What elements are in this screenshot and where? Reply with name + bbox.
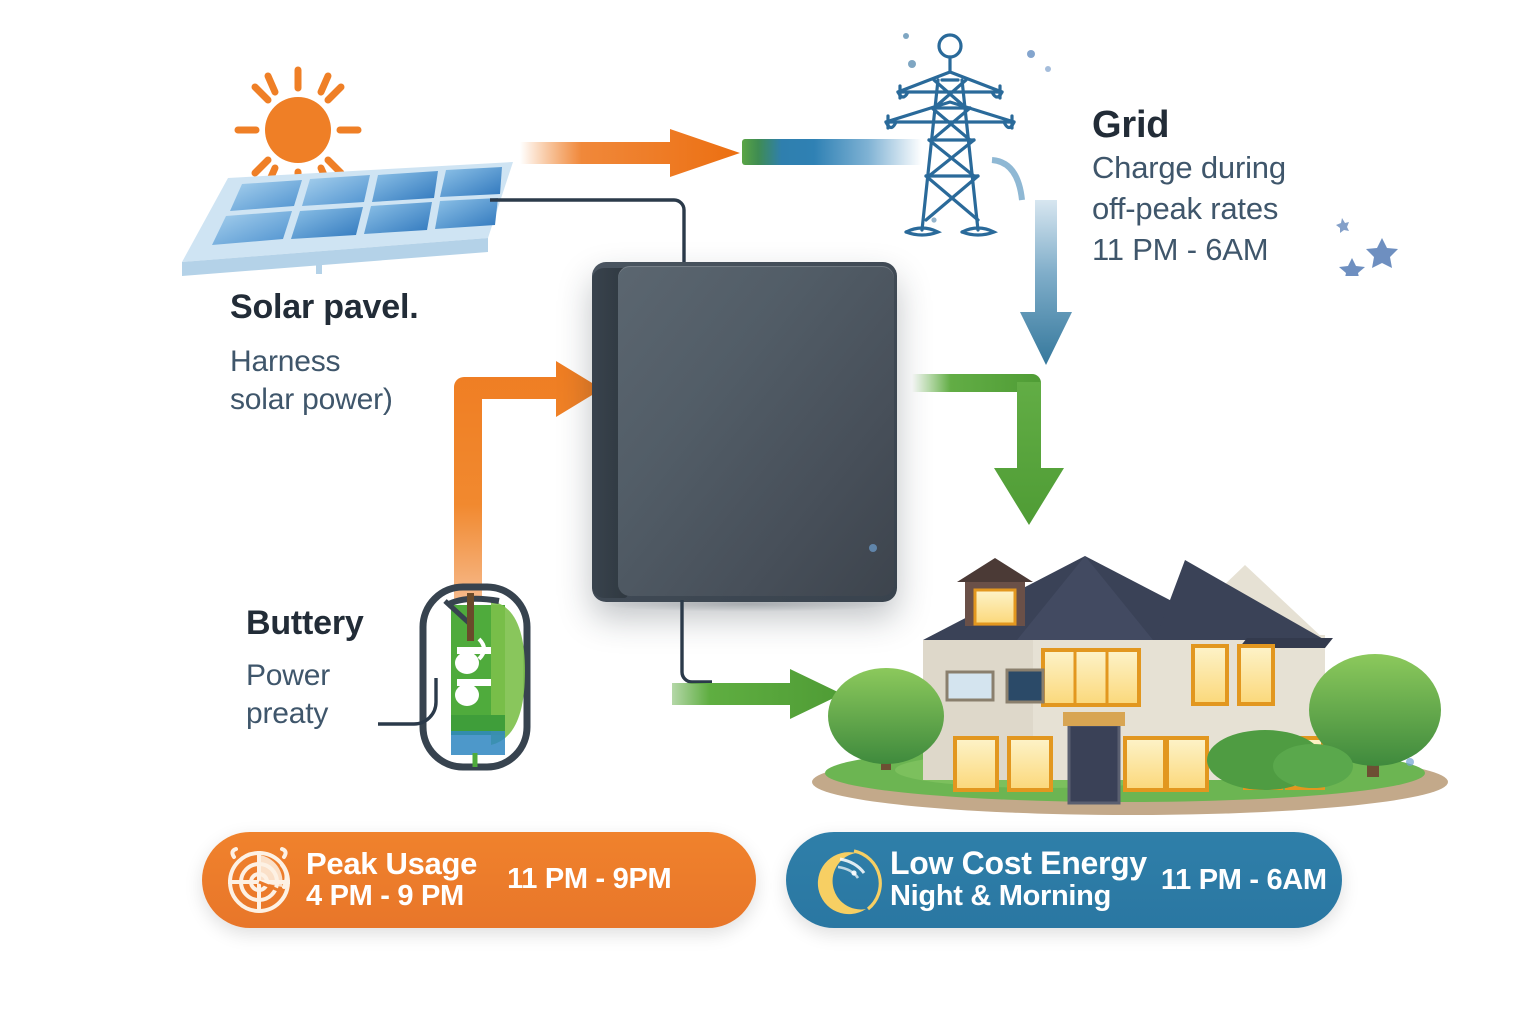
grid-sub-line2: off-peak rates [1092,188,1286,229]
infographic-canvas: Grid Charge during off-peak rates 11 PM … [0,0,1536,1024]
peak-usage-subtitle: 4 PM - 9 PM [306,880,477,912]
grid-sub-line1: Charge during [1092,147,1286,188]
battery-title: Buttery [246,604,364,643]
battery-sub-line1: Power [246,657,364,695]
battery-to-unit-arrow [452,355,602,600]
battery-text-block: Buttery Power preaty [246,604,364,734]
low-cost-title: Low Cost Energy [890,847,1147,880]
solar-text-block: Solar pavel. Harness solar power) [230,288,418,420]
clock-peak-icon [220,841,298,919]
star-decoration-icon [1330,196,1440,276]
solar-sub-line2: solar power) [230,381,418,419]
transmission-tower-icon [860,20,1040,260]
grid-title: Grid [1092,104,1286,147]
battery-label-connector [376,672,446,732]
low-cost-energy-legend[interactable]: Low Cost Energy Night & Morning 11 PM - … [786,832,1342,928]
low-cost-subtitle: Night & Morning [890,880,1147,912]
unit-to-home-arrow [912,368,1082,528]
grid-to-home-arrow [1020,200,1072,365]
solar-title: Solar pavel. [230,288,418,327]
dot-decoration-icon [1021,44,1061,84]
grid-sub-line3: 11 PM - 6AM [1092,229,1286,270]
peak-usage-time: 11 PM - 9PM [507,863,671,896]
grid-text-block: Grid Charge during off-peak rates 11 PM … [1092,104,1286,271]
solar-panel-icon [168,140,528,285]
solar-to-grid-arrow [520,129,740,177]
battery-sub-line2: preaty [246,695,364,733]
peak-usage-legend[interactable]: Peak Usage 4 PM - 9 PM 11 PM - 9PM [202,832,756,928]
house-icon [795,520,1465,815]
crescent-moon-icon [804,841,882,919]
low-cost-time: 11 PM - 6AM [1161,864,1327,897]
solar-sub-line1: Harness [230,343,418,381]
peak-usage-title: Peak Usage [306,848,477,880]
